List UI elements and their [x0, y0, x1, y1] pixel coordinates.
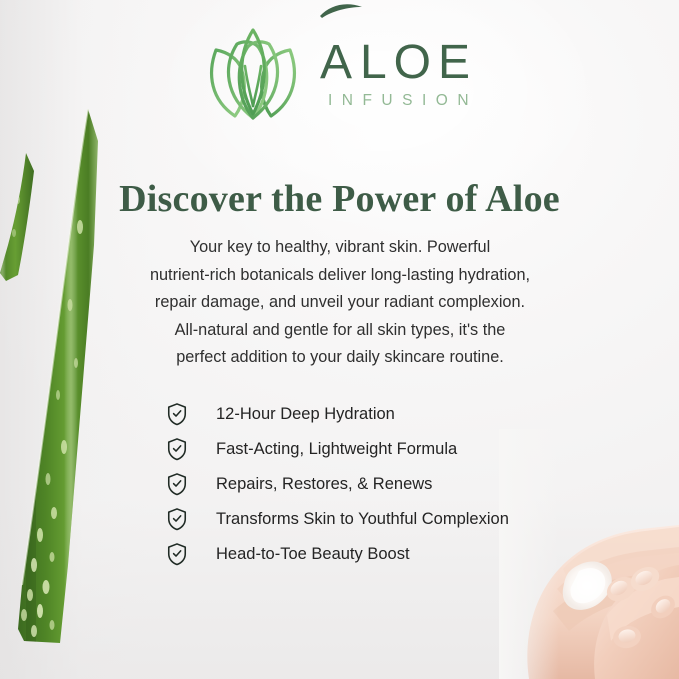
list-item: 12-Hour Deep Hydration [166, 402, 509, 426]
body-line: nutrient-rich botanicals deliver long-la… [96, 262, 584, 290]
brand-logo: A LOE INFUSION [0, 22, 679, 126]
feature-label: 12-Hour Deep Hydration [216, 406, 395, 423]
body-line: perfect addition to your daily skincare … [96, 344, 584, 372]
list-item: Transforms Skin to Youthful Complexion [166, 507, 509, 531]
list-item: Fast-Acting, Lightweight Formula [166, 437, 509, 461]
body-copy: Your key to healthy, vibrant skin. Power… [96, 234, 584, 372]
body-line: Your key to healthy, vibrant skin. Power… [96, 234, 584, 262]
shield-check-icon [166, 402, 188, 426]
shield-check-icon [166, 542, 188, 566]
brand-tagline: INFUSION [328, 93, 478, 109]
feature-label: Fast-Acting, Lightweight Formula [216, 441, 457, 458]
aloe-lotus-leaves-logo-icon [201, 22, 305, 126]
body-line: All-natural and gentle for all skin type… [96, 317, 584, 345]
brand-name: A LOE [320, 39, 477, 87]
brand-letter-a: A [320, 39, 360, 87]
body-line: repair damage, and unveil your radiant c… [96, 289, 584, 317]
hands-applying-cream-photo [499, 429, 679, 679]
list-item: Repairs, Restores, & Renews [166, 472, 509, 496]
page-title: Discover the Power of Aloe [0, 177, 679, 221]
poster-canvas: A LOE INFUSION Discover the Power of Alo… [0, 0, 679, 679]
feature-list: 12-Hour Deep Hydration Fast-Acting, Ligh… [166, 402, 509, 566]
brand-name-rest: LOE [360, 39, 477, 87]
feature-label: Repairs, Restores, & Renews [216, 476, 432, 493]
feature-label: Head-to-Toe Beauty Boost [216, 546, 410, 563]
shield-check-icon [166, 507, 188, 531]
list-item: Head-to-Toe Beauty Boost [166, 542, 509, 566]
shield-check-icon [166, 437, 188, 461]
feature-label: Transforms Skin to Youthful Complexion [216, 511, 509, 528]
shield-check-icon [166, 472, 188, 496]
swoosh-icon [318, 0, 364, 19]
brand-wordmark: A LOE INFUSION [319, 39, 478, 109]
